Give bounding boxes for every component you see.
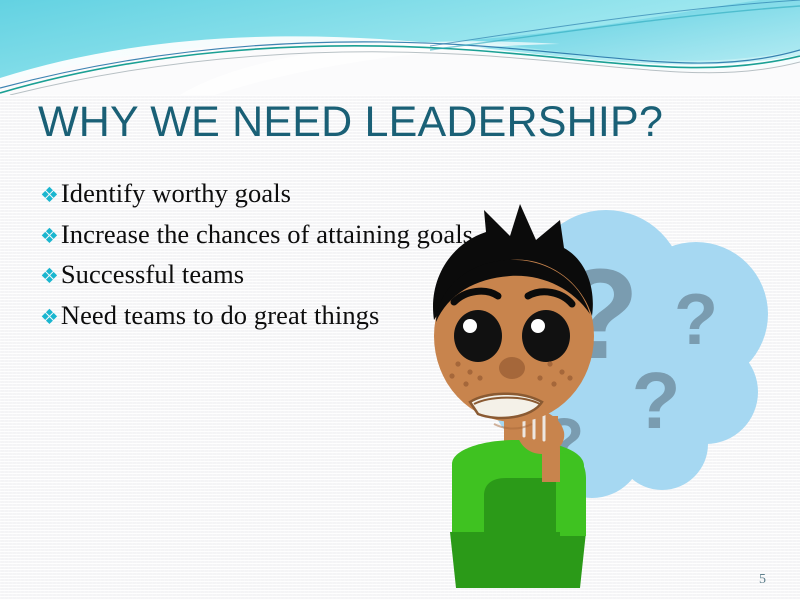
title-block: WHY WE NEED LEADERSHIP? <box>38 100 758 145</box>
diamond-bullet-icon: ❖ <box>40 307 59 328</box>
diamond-bullet-icon: ❖ <box>40 185 59 206</box>
slide-number: 5 <box>759 572 766 588</box>
shirt-hem <box>450 532 586 588</box>
left-eye-highlight <box>463 319 477 333</box>
left-eye <box>454 310 502 362</box>
boy-figure <box>433 204 594 588</box>
right-eye-highlight <box>531 319 545 333</box>
right-eye <box>522 310 570 362</box>
question-mark-icon: ? <box>632 356 681 445</box>
header-wave-banner <box>0 0 800 95</box>
list-item-label: Identify worthy goals <box>61 175 291 212</box>
page-title: WHY WE NEED LEADERSHIP? <box>38 100 758 145</box>
diamond-bullet-icon: ❖ <box>40 226 59 247</box>
thinking-boy-illustration: ? ? ? ? ? <box>424 196 800 588</box>
list-item-label: Increase the chances of attaining goals <box>61 216 473 253</box>
question-mark-icon: ? <box>674 280 718 360</box>
list-item-label: Need teams to do great things <box>61 297 380 334</box>
diamond-bullet-icon: ❖ <box>40 266 59 287</box>
nose <box>499 357 525 379</box>
presentation-slide: WHY WE NEED LEADERSHIP? ❖ Identify worth… <box>0 0 800 600</box>
list-item-label: Successful teams <box>61 256 244 293</box>
